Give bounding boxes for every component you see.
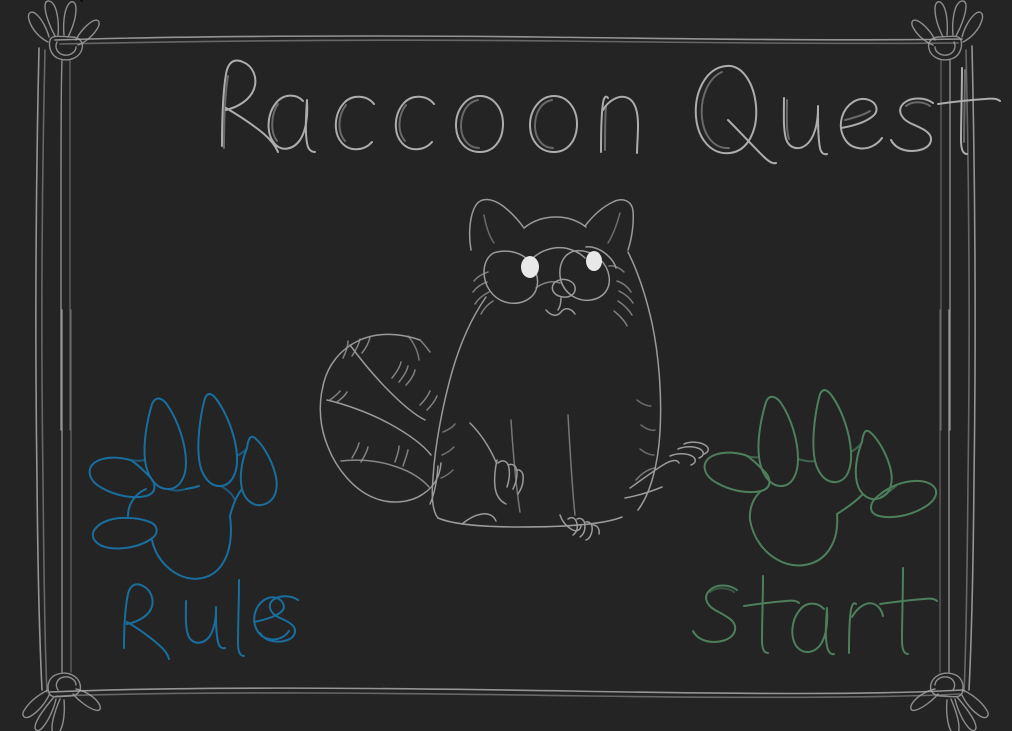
start-button[interactable] [690, 365, 930, 640]
raccoon-mascot [300, 185, 695, 530]
rules-button[interactable] [85, 375, 315, 640]
game-title-screen: Raccoon Quest [0, 0, 1012, 731]
start-label-text: Start [0, 0, 39, 4]
